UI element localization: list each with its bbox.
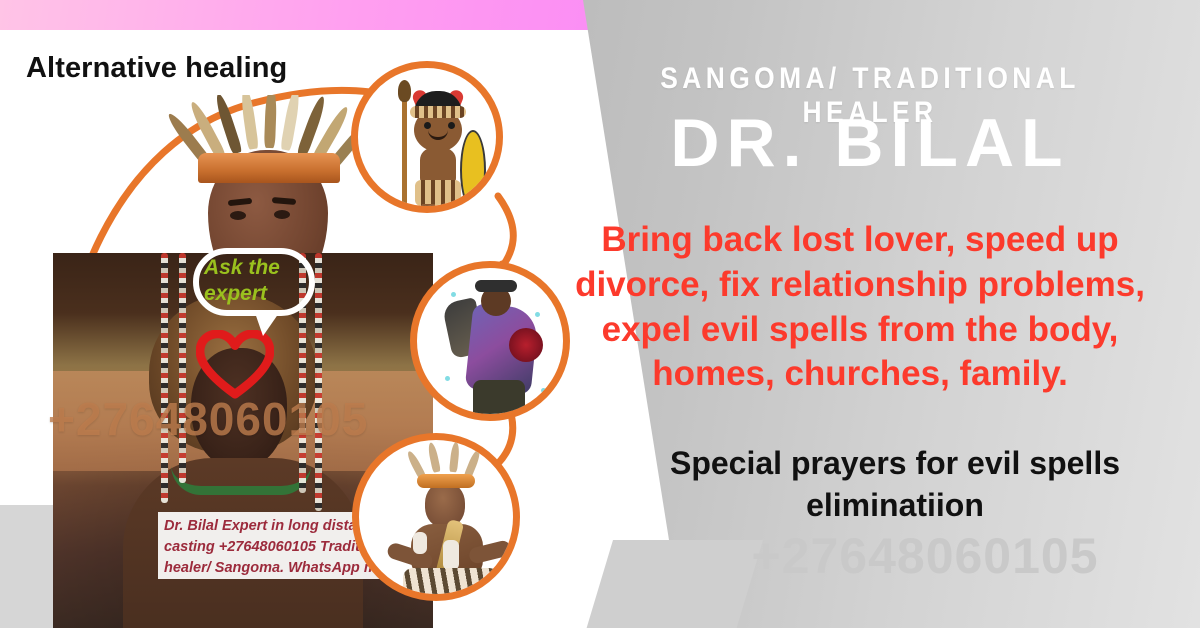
circle-inset-crouching-dancer bbox=[352, 433, 520, 601]
poster-canvas: Alternative healing bbox=[0, 0, 1200, 628]
photo-phone-watermark: +27648060105 bbox=[48, 392, 448, 446]
special-prayers-text: Special prayers for evil spells eliminat… bbox=[600, 443, 1190, 526]
heart-outline-icon bbox=[196, 330, 274, 400]
services-text: Bring back lost lover, speed up divorce,… bbox=[542, 218, 1178, 397]
circle-inset-zulu-warrior bbox=[351, 61, 503, 213]
speech-bubble-tail bbox=[254, 310, 281, 336]
speech-bubble-text: Ask the expert bbox=[204, 255, 314, 306]
healer-name: DR. BILAL bbox=[560, 108, 1180, 179]
phone-watermark: +27648060105 bbox=[660, 527, 1190, 585]
